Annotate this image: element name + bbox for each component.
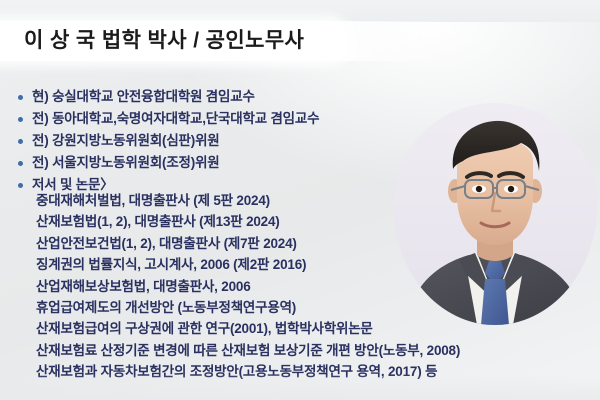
career-list: 현) 숭실대학교 안전융합대학원 겸임교수 전) 동아대학교,숙명여자대학교,단… [18,86,538,196]
publication-item: 징계권의 법률지식, 고시계사, 2006 (제2판 2016) [36,254,596,275]
publication-item: 휴업급여제도의 개선방안 (노동부정책연구용역) [36,297,596,318]
slide-canvas: 이 상 국 법학 박사 / 공인노무사 현) 숭실대학교 안전융합대학원 겸임교… [0,0,600,400]
publication-item: 중대재해처벌법, 대명출판사 (제 5판 2024) [36,190,596,211]
list-item: 전) 동아대학교,숙명여자대학교,단국대학교 겸임교수 [18,108,538,130]
top-highlight-strip [0,0,600,22]
list-item: 전) 서울지방노동위원회(조정)위원 [18,152,538,174]
career-item-label: 전) 강원지방노동위원회(심판)위원 [32,130,220,152]
bullet-dot-icon [18,183,23,188]
publication-item: 산재보험과 자동차보험간의 조정방안(고용노동부정책연구 용역, 2017) 등 [36,361,596,382]
bullet-dot-icon [18,161,23,166]
publication-item: 산재보험료 산정기준 변경에 따른 산재보험 보상기준 개편 방안(노동부, 2… [36,340,596,361]
page-title: 이 상 국 법학 박사 / 공인노무사 [24,26,304,56]
career-item-label: 전) 동아대학교,숙명여자대학교,단국대학교 겸임교수 [32,108,319,130]
career-item-label: 현) 숭실대학교 안전융합대학원 겸임교수 [32,86,255,108]
title-band-fade [330,21,450,61]
bullet-dot-icon [18,139,23,144]
publication-item: 산재보험법(1, 2), 대명출판사 (제13판 2024) [36,211,596,232]
bullet-dot-icon [18,95,23,100]
publication-item: 산업재해보상보험법, 대명출판사, 2006 [36,276,596,297]
list-item: 현) 숭실대학교 안전융합대학원 겸임교수 [18,86,538,108]
publication-item: 산업안전보건법(1, 2), 대명출판사 (제7판 2024) [36,233,596,254]
list-item: 전) 강원지방노동위원회(심판)위원 [18,130,538,152]
publication-list: 중대재해처벌법, 대명출판사 (제 5판 2024) 산재보험법(1, 2), … [36,190,596,383]
publication-item: 산재보험급여의 구상권에 관한 연구(2001), 법학박사학위논문 [36,318,596,339]
bullet-dot-icon [18,117,23,122]
career-item-label: 전) 서울지방노동위원회(조정)위원 [32,152,220,174]
